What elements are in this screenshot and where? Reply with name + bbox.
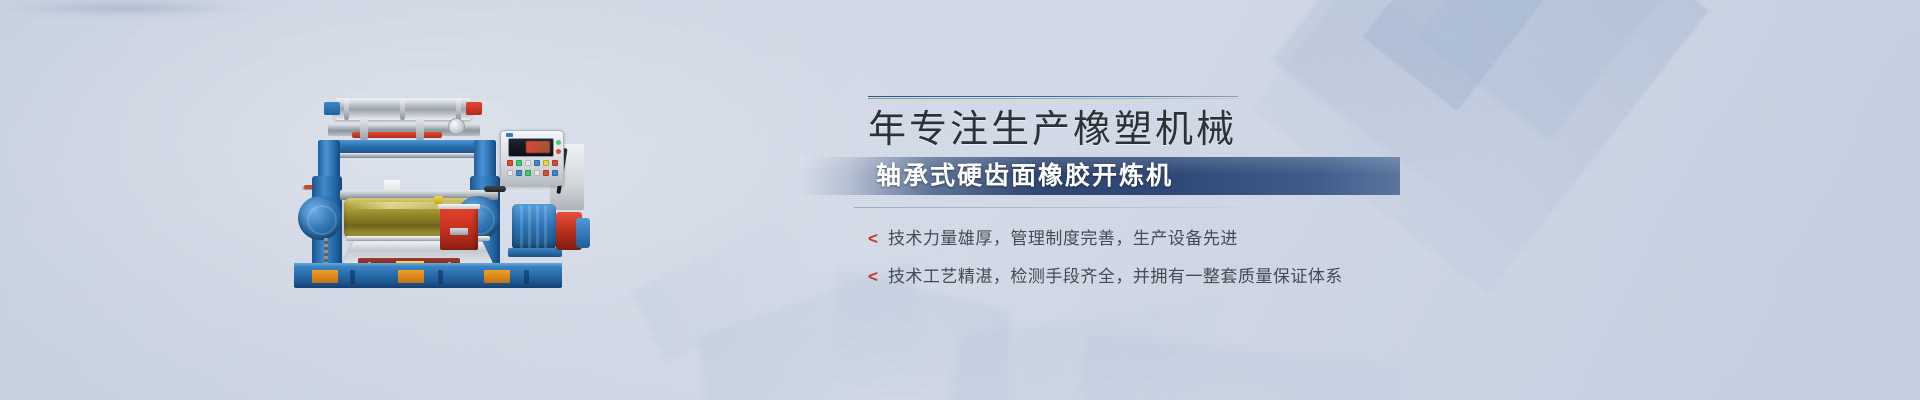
machine-base-rib	[524, 270, 529, 284]
machine-roller-end-right	[466, 102, 482, 115]
machine-crossbeam	[318, 140, 496, 153]
feature-text: 技术力量雄厚，管理制度完善，生产设备先进	[888, 224, 1238, 249]
headline-top-rule	[868, 96, 1238, 99]
machine-panel-logo	[506, 133, 513, 137]
machine-roller-end-left	[324, 102, 340, 115]
machine-base-vent	[398, 270, 424, 283]
chevron-right-icon: <	[868, 230, 878, 247]
product-machine-image	[288, 88, 588, 270]
machine-shadow	[0, 0, 250, 16]
machine-motor-fin	[536, 206, 539, 248]
machine-base-rib	[350, 270, 355, 284]
machine-bearing-housing-left	[298, 196, 342, 240]
machine-clamp	[416, 118, 424, 140]
machine-motor-fin	[528, 206, 531, 248]
chevron-right-icon: <	[868, 268, 878, 285]
rule-gold-line	[868, 98, 1238, 99]
machine-coupling	[576, 218, 590, 248]
banner-content: 年专注生产橡塑机械 轴承式硬齿面橡胶开炼机 < 技术力量雄厚，管理制度完善，生产…	[808, 96, 1588, 300]
machine-roller-ring	[456, 100, 461, 120]
machine-motor-fin	[520, 206, 523, 248]
machine-motor-fin	[544, 206, 547, 248]
machine-fan-wheel	[448, 118, 465, 135]
machine-gearbox-lip	[438, 204, 480, 209]
machine-tie-rod	[324, 154, 492, 158]
machine-base-vent	[312, 270, 338, 283]
feature-text: 技术工艺精湛，检测手段齐全，并拥有一整套质量保证体系	[888, 262, 1343, 287]
machine-panel-readout	[526, 141, 550, 153]
page-title: 年专注生产橡塑机械	[868, 105, 1588, 155]
machine-indicator-light-red	[556, 149, 561, 154]
machine-base-vent	[484, 270, 510, 283]
list-item: < 技术力量雄厚，管理制度完善，生产设备先进	[868, 224, 1588, 249]
machine-yellow-cap	[434, 196, 443, 204]
machine-roller-ring	[344, 100, 349, 120]
product-subtitle: 轴承式硬齿面橡胶开炼机	[876, 157, 1173, 195]
machine-keypad-row	[507, 160, 559, 168]
background-facet-shape	[943, 300, 1218, 400]
subtitle-bar: 轴承式硬齿面橡胶开炼机	[800, 157, 1400, 195]
machine-indicator-light-green	[556, 140, 561, 145]
feature-list: < 技术力量雄厚，管理制度完善，生产设备先进 < 技术工艺精湛，检测手段齐全，并…	[868, 224, 1588, 287]
machine-roller-ring	[400, 100, 405, 120]
rule-blue-line	[868, 96, 1238, 97]
machine-gearbox-plate	[450, 228, 468, 235]
machine-cable-wrap	[484, 186, 506, 192]
background-ribbon-shape	[1363, 0, 1550, 111]
machine-keypad-row	[507, 170, 559, 178]
machine-base-rib	[438, 270, 443, 284]
background-facet-shape	[1075, 334, 1405, 400]
machine-motor	[512, 204, 556, 250]
background-facet-shape	[631, 217, 819, 363]
hero-banner: 年专注生产橡塑机械 轴承式硬齿面橡胶开炼机 < 技术力量雄厚，管理制度完善，生产…	[0, 0, 1920, 400]
machine-motor-base	[508, 248, 562, 257]
list-item: < 技术工艺精湛，检测手段齐全，并拥有一整套质量保证体系	[868, 262, 1588, 287]
content-divider	[854, 207, 1264, 208]
machine-clamp	[360, 118, 368, 140]
